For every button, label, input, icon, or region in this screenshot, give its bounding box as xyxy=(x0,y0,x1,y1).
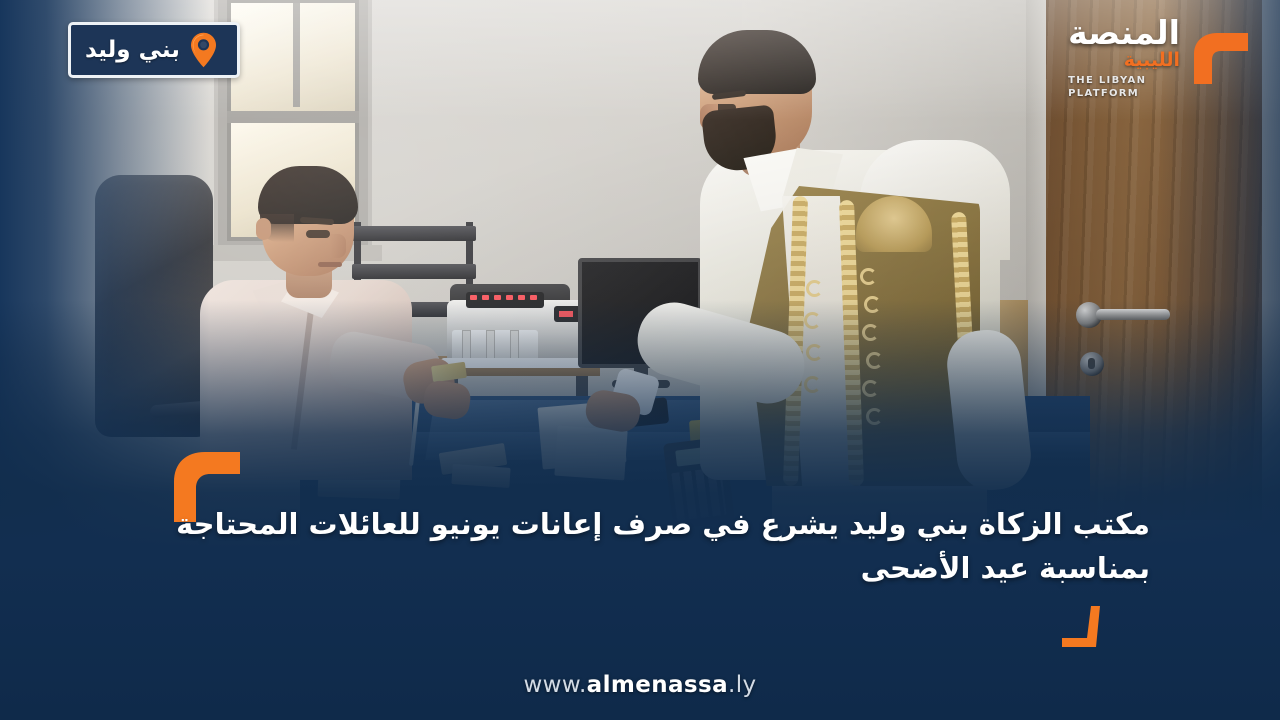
brand-english-line1: THE LIBYAN xyxy=(1068,75,1180,88)
brand-logo: المنصة الليبية THE LIBYAN PLATFORM xyxy=(1068,16,1252,100)
seated-man-nose xyxy=(330,234,346,258)
brand-name-english: THE LIBYAN PLATFORM xyxy=(1068,75,1180,100)
brand-english-line2: PLATFORM xyxy=(1068,88,1180,101)
footer-url[interactable]: www.almenassa.ly xyxy=(0,672,1280,698)
headline-line-1: مكتب الزكاة بني وليد يشرع في صرف إعانات … xyxy=(176,507,1150,541)
seated-man-mouth xyxy=(318,262,342,267)
brand-wordmark: المنصة الليبية THE LIBYAN PLATFORM xyxy=(1068,16,1180,100)
brand-subname-arabic: الليبية xyxy=(1068,51,1180,70)
headline-line-2: بمناسبة عيد الأضحى xyxy=(140,546,1150,590)
orange-hook-mark-icon xyxy=(1190,30,1252,86)
seated-man-ear xyxy=(256,218,271,240)
orange-angle-accent-icon xyxy=(1058,604,1104,650)
seated-man-eye xyxy=(306,230,330,238)
url-main: almenassa xyxy=(587,672,728,698)
map-pin-icon xyxy=(190,32,217,68)
location-label: بني وليد xyxy=(85,37,180,63)
url-prefix: www. xyxy=(523,672,586,698)
url-suffix: .ly xyxy=(728,672,757,698)
brand-name-arabic: المنصة xyxy=(1068,16,1180,49)
location-badge: بني وليد xyxy=(68,22,240,78)
headline-text: مكتب الزكاة بني وليد يشرع في صرف إعانات … xyxy=(140,502,1150,590)
news-card: بني وليد المنصة الليبية THE LIBYAN PLATF… xyxy=(0,0,1280,720)
